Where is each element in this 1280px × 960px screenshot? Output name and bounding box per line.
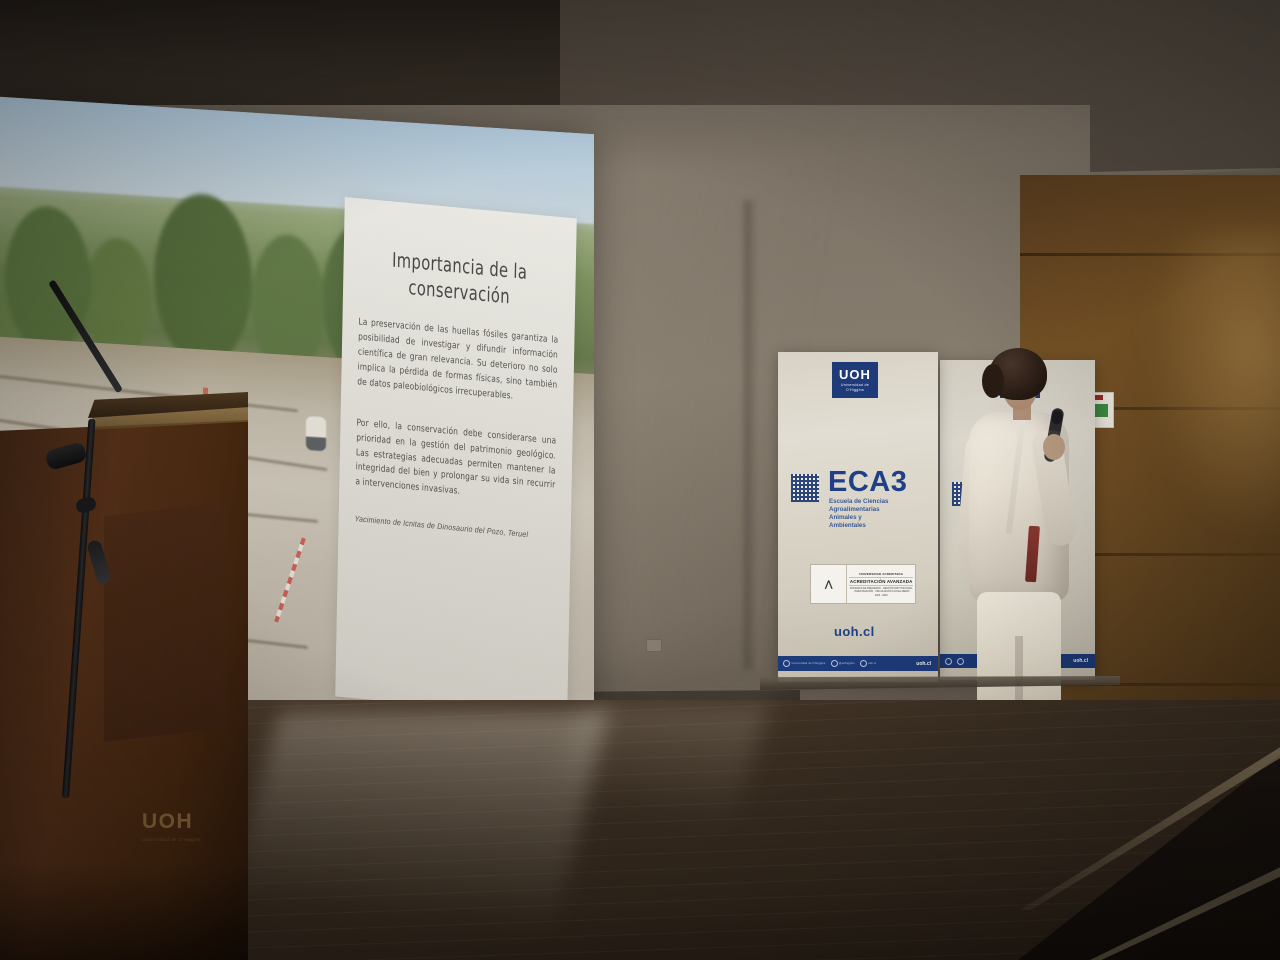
slide-paragraph-2: Por ello, la conservación debe considera…: [355, 416, 556, 509]
facebook-icon: [783, 660, 790, 667]
mic-stand-clamp: [44, 441, 88, 471]
podium-logo-subtitle: Universidad de O'Higgins: [142, 837, 201, 842]
speaker-hand: [1043, 434, 1065, 460]
eca3-subtitle-line-2: Agroalimentarias: [829, 506, 880, 514]
slide-title: Importancia de la conservación: [377, 246, 542, 312]
accreditation-title: ACREDITACIÓN AVANZADA: [849, 577, 913, 586]
uoh-logo-badge: UOH Universidad de O'Higgins: [832, 362, 878, 398]
qr-code-icon: [791, 474, 819, 502]
eca3-subtitle-line-3: Animales y: [829, 514, 862, 522]
uoh-logo-mark: UOH: [839, 368, 871, 381]
banner-footer-website: uoh.cl: [916, 661, 931, 667]
wall-corner: [744, 200, 760, 670]
uoh-logo-subtitle: Universidad de O'Higgins: [832, 383, 878, 392]
banner-footer-bar: Universidad de O'Higgins @uohiggins uoh.…: [778, 656, 938, 671]
eca3-subtitle-line-1: Escuela de Ciencias: [829, 498, 889, 506]
mic-stand-pole: [62, 419, 95, 799]
accreditation-years: 2023 - 2029: [849, 594, 913, 597]
stand-microphone-icon: [86, 539, 112, 585]
roll-up-banner-primary: UOH Universidad de O'Higgins ECA3 Escuel…: [778, 352, 938, 682]
accreditation-detail: DOCENCIA DE PREGRADO · GESTIÓN INSTITUCI…: [849, 587, 913, 593]
social-label-1: Universidad de O'Higgins: [792, 662, 826, 665]
eca3-subtitle-line-4: Ambientales: [829, 522, 866, 530]
instagram-icon: [831, 660, 838, 667]
speaker-hair: [989, 348, 1047, 400]
social-label-2: @uohiggins: [839, 662, 855, 665]
banner-website: uoh.cl: [834, 624, 875, 639]
presentation-photo-scene: Importancia de la conservación La preser…: [0, 0, 1280, 960]
accreditation-badge: ⋀ UNIVERSIDAD ACREDITADA ACREDITACIÓN AV…: [810, 564, 916, 604]
power-outlet-icon: [646, 639, 662, 652]
accreditation-seal-icon: ⋀: [811, 565, 847, 603]
podium-shadow: [0, 862, 248, 960]
floor-projector-reflection: [221, 712, 608, 942]
podium-logo-mark: UOH: [142, 810, 201, 834]
microphone-stand: [0, 388, 140, 808]
podium-logo: UOH Universidad de O'Higgins: [142, 810, 201, 842]
wall-spotlight-glow: [1150, 230, 1280, 530]
slide-paragraph-1: La preservación de las huellas fósiles g…: [357, 316, 558, 409]
mic-stand-joint: [74, 495, 97, 514]
web-icon: [860, 660, 867, 667]
social-label-3: uoh.cl: [868, 662, 876, 665]
slide-caption: Yacimiento de Icnitas de Dinosaurio del …: [355, 514, 554, 541]
eca3-wordmark: ECA3: [828, 466, 907, 499]
slide-text-panel: Importancia de la conservación La preser…: [335, 197, 577, 718]
accreditation-eyebrow: UNIVERSIDAD ACREDITADA: [849, 572, 913, 576]
photo-field-worker: [306, 416, 326, 451]
floor-light-reflection: [541, 706, 770, 826]
banner-website-text: uoh.cl: [834, 624, 875, 639]
